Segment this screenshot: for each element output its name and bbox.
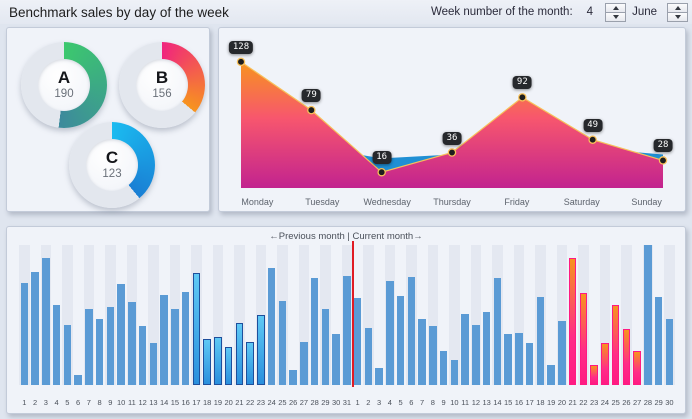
area-value-badge: 36	[443, 132, 462, 145]
gauge-value: 156	[152, 89, 171, 101]
bar-slot[interactable]	[84, 245, 95, 385]
bar-x-tick-label: 31	[342, 398, 353, 407]
bar-selected[interactable]	[236, 323, 244, 385]
bar[interactable]	[547, 365, 555, 385]
bar-slot[interactable]	[438, 245, 449, 385]
bar-x-tick-label: 9	[438, 398, 449, 407]
bar[interactable]	[171, 309, 179, 385]
bar[interactable]	[429, 326, 437, 385]
header-bar: Benchmark sales by day of the week Week …	[0, 0, 692, 24]
bar-slot[interactable]	[374, 245, 385, 385]
bar-x-tick-label: 16	[514, 398, 525, 407]
bar-x-tick-label: 11	[127, 398, 138, 407]
triangle-up-icon	[675, 6, 681, 10]
page-title: Benchmark sales by day of the week	[9, 5, 229, 20]
bar-slot[interactable]	[643, 245, 654, 385]
bar[interactable]	[21, 283, 29, 385]
bar[interactable]	[150, 343, 158, 385]
bar-slot[interactable]	[234, 245, 245, 385]
bar-slot[interactable]	[331, 245, 342, 385]
bar-slot[interactable]	[320, 245, 331, 385]
bar-slot[interactable]	[578, 245, 589, 385]
bar-slot[interactable]	[363, 245, 374, 385]
area-value-badge: 28	[654, 139, 673, 152]
header-controls: Week number of the month: 4 June	[431, 0, 688, 24]
bar-slot[interactable]	[105, 245, 116, 385]
bar[interactable]	[655, 297, 663, 385]
bar-slot[interactable]	[30, 245, 41, 385]
bar-slot[interactable]	[191, 245, 202, 385]
bar-x-tick-label: 5	[62, 398, 73, 407]
gauge-center: B156	[136, 59, 188, 111]
bar[interactable]	[494, 278, 502, 385]
bar-selected[interactable]	[214, 337, 222, 385]
bar[interactable]	[483, 312, 491, 385]
bar-slot[interactable]	[159, 245, 170, 385]
bar-slot[interactable]	[632, 245, 643, 385]
gauge-letter: C	[106, 149, 118, 166]
bar-x-tick-label: 1	[19, 398, 30, 407]
area-chart-svg	[219, 28, 685, 211]
gauge-letter: B	[156, 69, 168, 86]
bar-x-tick-label: 25	[610, 398, 621, 407]
bar-x-tick-label: 18	[535, 398, 546, 407]
bar-slot[interactable]	[170, 245, 181, 385]
bar[interactable]	[461, 314, 469, 385]
bar-slot[interactable]	[256, 245, 267, 385]
bar-slot[interactable]	[94, 245, 105, 385]
area-x-tick-label: Wednesday	[355, 197, 420, 207]
bar-x-tick-label: 1	[352, 398, 363, 407]
gauge-letter: A	[58, 69, 70, 86]
gauge-a[interactable]: A190	[21, 42, 107, 128]
bar-slot[interactable]	[514, 245, 525, 385]
bar-chart-plot[interactable]	[19, 245, 675, 385]
bar-x-tick-label: 11	[460, 398, 471, 407]
bar-x-tick-label: 4	[385, 398, 396, 407]
bar-slot[interactable]	[180, 245, 191, 385]
bar-slot[interactable]	[266, 245, 277, 385]
area-data-point[interactable]	[659, 157, 666, 164]
bar-x-tick-label: 5	[395, 398, 406, 407]
bar[interactable]	[289, 370, 297, 385]
bar-x-tick-label: 8	[428, 398, 439, 407]
bar-slot[interactable]	[51, 245, 62, 385]
bar[interactable]	[311, 278, 319, 385]
bar-x-tick-label: 13	[481, 398, 492, 407]
bar-selected[interactable]	[612, 305, 620, 385]
bar-slot[interactable]	[116, 245, 127, 385]
area-x-axis: MondayTuesdayWednesdayThursdayFridaySatu…	[219, 197, 685, 207]
bar-slot[interactable]	[342, 245, 353, 385]
bar-x-tick-label: 26	[621, 398, 632, 407]
bar-x-tick-label: 16	[180, 398, 191, 407]
bar-slot[interactable]	[277, 245, 288, 385]
bar-slot[interactable]	[417, 245, 428, 385]
bar[interactable]	[451, 360, 459, 385]
bar[interactable]	[107, 307, 115, 385]
area-data-point[interactable]	[308, 107, 315, 114]
bar[interactable]	[139, 326, 147, 385]
bar-slot[interactable]	[481, 245, 492, 385]
bar[interactable]	[418, 319, 426, 385]
bar-chart-x-axis: 1234567891011121314151617181920212223242…	[19, 398, 675, 407]
bar-slot[interactable]	[557, 245, 568, 385]
bar[interactable]	[74, 375, 82, 385]
area-data-point[interactable]	[378, 169, 385, 176]
bar-x-tick-label: 18	[202, 398, 213, 407]
bar[interactable]	[526, 343, 534, 385]
bar-slot[interactable]	[460, 245, 471, 385]
month-nav-label[interactable]: ←Previous month | Current month→	[7, 231, 685, 242]
bar[interactable]	[31, 272, 39, 385]
bar-selected[interactable]	[590, 365, 598, 385]
bar[interactable]	[96, 319, 104, 385]
bar-selected[interactable]	[569, 258, 577, 385]
bar[interactable]	[397, 296, 405, 385]
bar-x-tick-label: 14	[492, 398, 503, 407]
bar-slot[interactable]	[406, 245, 417, 385]
week-number-label: Week number of the month:	[431, 6, 573, 18]
gauge-value: 123	[102, 169, 121, 181]
area-data-point[interactable]	[589, 136, 596, 143]
bar[interactable]	[42, 258, 50, 385]
bar-selected[interactable]	[203, 339, 211, 385]
bar-slot[interactable]	[148, 245, 159, 385]
bar-x-tick-label: 20	[223, 398, 234, 407]
bar-chart-panel: ←Previous month | Current month→ 1234567…	[6, 226, 686, 414]
bar-slot[interactable]	[299, 245, 310, 385]
bar-x-tick-label: 27	[299, 398, 310, 407]
bar-slot[interactable]	[428, 245, 439, 385]
bar[interactable]	[117, 284, 125, 385]
bar-x-tick-label: 20	[557, 398, 568, 407]
bar-slot[interactable]	[449, 245, 460, 385]
bar-slot[interactable]	[610, 245, 621, 385]
week-increment-button[interactable]	[606, 4, 625, 13]
bar-x-tick-label: 29	[653, 398, 664, 407]
bar-x-tick-label: 24	[600, 398, 611, 407]
area-value-badge: 79	[302, 89, 321, 102]
bar-slot[interactable]	[137, 245, 148, 385]
bar-x-tick-label: 12	[137, 398, 148, 407]
month-divider-line	[352, 241, 354, 387]
bar-x-tick-label: 3	[41, 398, 52, 407]
bar[interactable]	[332, 334, 340, 385]
bar-x-tick-label: 19	[546, 398, 557, 407]
bar-x-tick-label: 8	[94, 398, 105, 407]
bar-x-tick-label: 19	[213, 398, 224, 407]
bar-x-tick-label: 13	[148, 398, 159, 407]
bar[interactable]	[408, 277, 416, 385]
bar-slot[interactable]	[492, 245, 503, 385]
bar[interactable]	[644, 245, 652, 385]
bar-selected[interactable]	[257, 315, 265, 385]
bar-x-tick-label: 24	[266, 398, 277, 407]
bar[interactable]	[472, 325, 480, 385]
bar-slot[interactable]	[223, 245, 234, 385]
bar-slot[interactable]	[309, 245, 320, 385]
area-value-badge: 16	[372, 151, 391, 164]
area-chart-panel: 128791636924928 MondayTuesdayWednesdayTh…	[218, 27, 686, 212]
bar-x-tick-label: 7	[417, 398, 428, 407]
bar-slot[interactable]	[288, 245, 299, 385]
gauge-c[interactable]: C123	[69, 122, 155, 208]
bar-slot[interactable]	[245, 245, 256, 385]
bar[interactable]	[64, 325, 72, 385]
bar-x-tick-label: 9	[105, 398, 116, 407]
bar-slot[interactable]	[385, 245, 396, 385]
bar-x-tick-label: 12	[471, 398, 482, 407]
bar-x-tick-label: 10	[449, 398, 460, 407]
month-decrement-button[interactable]	[668, 13, 687, 21]
month-value: June	[632, 6, 657, 18]
bar-x-tick-label: 22	[245, 398, 256, 407]
bar-slot[interactable]	[202, 245, 213, 385]
bar-x-tick-label: 23	[589, 398, 600, 407]
bar-x-tick-label: 15	[503, 398, 514, 407]
bar-slot[interactable]	[567, 245, 578, 385]
bar-slot[interactable]	[395, 245, 406, 385]
bar-slot[interactable]	[471, 245, 482, 385]
area-x-tick-label: Monday	[225, 197, 290, 207]
bar-slot[interactable]	[589, 245, 600, 385]
bar[interactable]	[515, 333, 523, 385]
bar[interactable]	[537, 297, 545, 385]
bar-selected[interactable]	[601, 343, 609, 385]
bar-x-tick-label: 2	[30, 398, 41, 407]
gauges-panel: A190B156C123	[6, 27, 210, 212]
bar-slot[interactable]	[127, 245, 138, 385]
bar-slot[interactable]	[213, 245, 224, 385]
area-data-point[interactable]	[237, 58, 244, 65]
bar-slot[interactable]	[600, 245, 611, 385]
bar[interactable]	[666, 319, 674, 385]
bar-slot[interactable]	[546, 245, 557, 385]
bar[interactable]	[504, 334, 512, 385]
area-value-badge: 49	[583, 119, 602, 132]
bar[interactable]	[558, 321, 566, 385]
bar-x-tick-label: 4	[51, 398, 62, 407]
bar-slot[interactable]	[503, 245, 514, 385]
bar-x-tick-label: 3	[374, 398, 385, 407]
bar-x-tick-label: 23	[256, 398, 267, 407]
week-number-stepper[interactable]	[605, 3, 626, 22]
bar-selected[interactable]	[633, 351, 641, 385]
bar[interactable]	[279, 301, 287, 385]
bar[interactable]	[365, 328, 373, 385]
bar-x-tick-label: 25	[277, 398, 288, 407]
area-x-tick-label: Thursday	[420, 197, 485, 207]
bar-x-tick-label: 7	[84, 398, 95, 407]
area-x-tick-label: Sunday	[614, 197, 679, 207]
bar-selected[interactable]	[193, 273, 201, 385]
area-x-tick-label: Friday	[484, 197, 549, 207]
bar[interactable]	[300, 342, 308, 385]
month-stepper[interactable]	[667, 3, 688, 22]
gauge-center: A190	[38, 59, 90, 111]
area-value-badge: 92	[513, 76, 532, 89]
bar[interactable]	[85, 309, 93, 385]
gauge-center: C123	[86, 139, 138, 191]
bar-x-tick-label: 15	[170, 398, 181, 407]
area-x-tick-label: Saturday	[549, 197, 614, 207]
bar-x-tick-label: 30	[331, 398, 342, 407]
bar-slot[interactable]	[524, 245, 535, 385]
bar-slot[interactable]	[653, 245, 664, 385]
bar[interactable]	[375, 368, 383, 385]
dashboard-root: Benchmark sales by day of the week Week …	[0, 0, 692, 419]
bar[interactable]	[343, 276, 351, 385]
bar-x-tick-label: 21	[567, 398, 578, 407]
bar-selected[interactable]	[580, 293, 588, 385]
bar-x-tick-label: 10	[116, 398, 127, 407]
bar-x-tick-label: 22	[578, 398, 589, 407]
triangle-down-icon	[613, 15, 619, 19]
bar-x-tick-label: 6	[406, 398, 417, 407]
area-data-point[interactable]	[448, 149, 455, 156]
bar-slot[interactable]	[19, 245, 30, 385]
bar-selected[interactable]	[246, 342, 254, 385]
area-value-badge: 128	[229, 41, 253, 54]
gauge-b[interactable]: B156	[119, 42, 205, 128]
triangle-up-icon	[613, 6, 619, 10]
bar-x-tick-label: 28	[643, 398, 654, 407]
bar[interactable]	[440, 351, 448, 385]
bar-x-tick-label: 28	[309, 398, 320, 407]
bar-slot[interactable]	[73, 245, 84, 385]
bar[interactable]	[53, 305, 61, 385]
bar[interactable]	[322, 309, 330, 385]
bar-x-tick-label: 27	[632, 398, 643, 407]
bar-x-tick-label: 14	[159, 398, 170, 407]
bar-selected[interactable]	[225, 347, 233, 385]
bar-slot[interactable]	[664, 245, 675, 385]
area-x-tick-label: Tuesday	[290, 197, 355, 207]
week-number-value: 4	[587, 6, 593, 18]
area-data-point[interactable]	[519, 94, 526, 101]
month-increment-button[interactable]	[668, 4, 687, 13]
bar-selected[interactable]	[623, 329, 631, 385]
bar-slot[interactable]	[535, 245, 546, 385]
bar-x-tick-label: 29	[320, 398, 331, 407]
bar-x-tick-label: 30	[664, 398, 675, 407]
gauge-value: 190	[54, 89, 73, 101]
bar-x-tick-label: 26	[288, 398, 299, 407]
bar-x-tick-label: 6	[73, 398, 84, 407]
bar-slot[interactable]	[621, 245, 632, 385]
bar[interactable]	[268, 268, 276, 385]
bar[interactable]	[354, 298, 362, 385]
week-decrement-button[interactable]	[606, 13, 625, 21]
bar-x-tick-label: 17	[191, 398, 202, 407]
bar[interactable]	[160, 295, 168, 385]
bar-slot[interactable]	[41, 245, 52, 385]
bar[interactable]	[182, 292, 190, 385]
bar-x-tick-label: 2	[363, 398, 374, 407]
bar[interactable]	[386, 281, 394, 385]
bar[interactable]	[128, 302, 136, 385]
bar-x-tick-label: 17	[524, 398, 535, 407]
bar-slot[interactable]	[62, 245, 73, 385]
bar-x-tick-label: 21	[234, 398, 245, 407]
triangle-down-icon	[675, 15, 681, 19]
